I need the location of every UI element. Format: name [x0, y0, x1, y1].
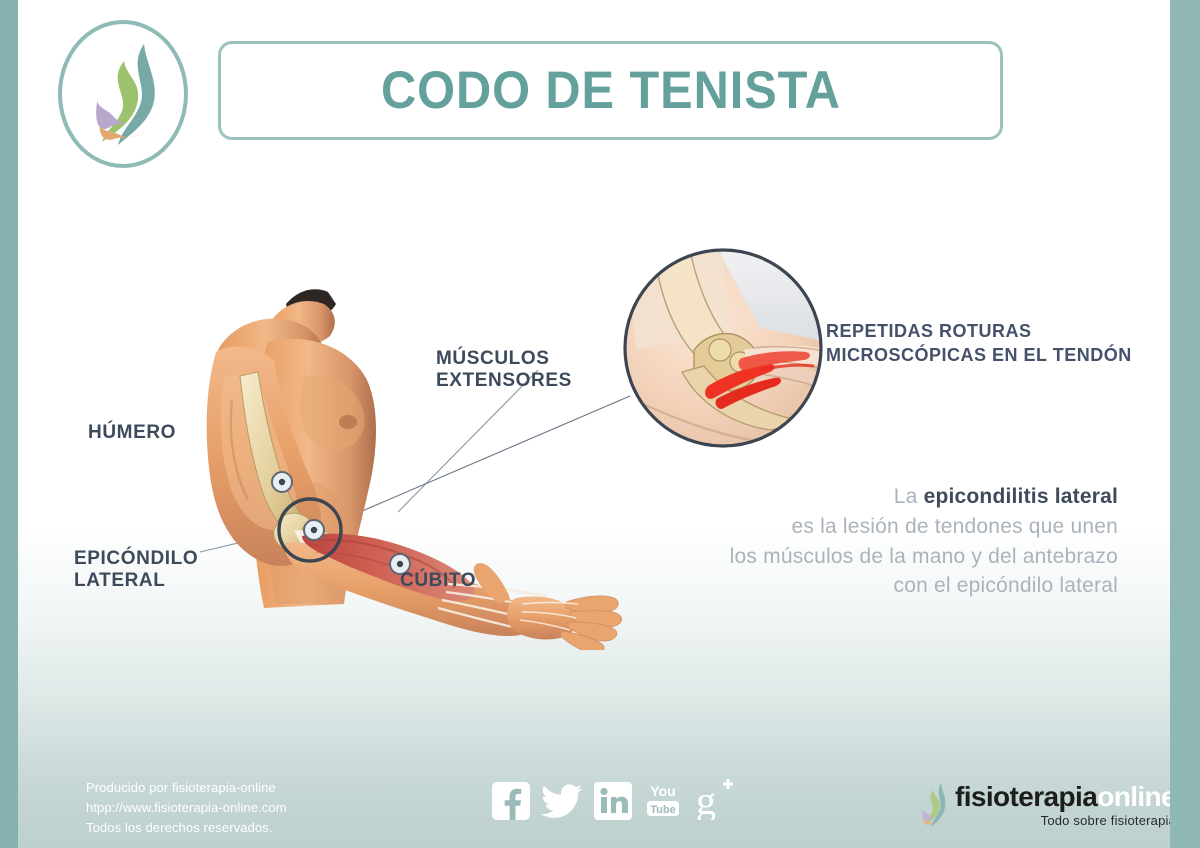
marker-epicondyle	[304, 520, 324, 540]
twitter-icon[interactable]	[541, 782, 583, 820]
brand-footer-logo: fisioterapiaonline Todo sobre fisioterap…	[918, 782, 1176, 828]
description-line-1: La epicondilitis lateral	[648, 482, 1118, 512]
label-musculos-extensores: MÚSCULOS EXTENSORES	[436, 348, 572, 393]
flame-leaf-logo-icon	[84, 41, 162, 147]
brand-wordmark: fisioterapiaonline Todo sobre fisioterap…	[955, 783, 1176, 827]
brand-word-light: online	[1097, 781, 1176, 812]
description-block: La epicondilitis lateral es la lesión de…	[648, 482, 1118, 601]
description-emphasis: epicondilitis lateral	[924, 485, 1118, 508]
brand-tagline: Todo sobre fisioterapia	[955, 814, 1176, 827]
description-prefix: La	[894, 485, 924, 508]
brand-logo-badge	[58, 20, 188, 168]
linkedin-icon[interactable]	[594, 782, 632, 820]
description-line-2: es la lesión de tendones que unen	[648, 512, 1118, 542]
footer-credit: Producido por fisioterapia-online htpp:/…	[86, 778, 287, 837]
label-epicondilo-lateral: EPICÓNDILO LATERAL	[74, 548, 198, 593]
svg-text:You: You	[650, 783, 675, 799]
description-line-4: con el epicóndilo lateral	[648, 571, 1118, 601]
label-cubito: CÚBITO	[400, 570, 476, 592]
facebook-icon[interactable]	[492, 782, 530, 820]
label-humero: HÚMERO	[88, 422, 176, 444]
brand-word-dark: fisioterapia	[955, 781, 1097, 812]
label-repetidas-roturas: REPETIDAS ROTURAS MICROSCÓPICAS EN EL TE…	[826, 320, 1176, 368]
youtube-icon[interactable]: You Tube	[643, 780, 683, 820]
brand-name-row: fisioterapiaonline	[955, 783, 1176, 811]
title-banner: CODO DE TENISTA	[218, 41, 1003, 140]
infographic-poster: CODO DE TENISTA	[0, 0, 1200, 848]
svg-text:g: g	[696, 778, 716, 820]
svg-text:Tube: Tube	[650, 804, 675, 816]
description-line-3: los músculos de la mano y del antebrazo	[648, 542, 1118, 572]
poster-header: CODO DE TENISTA	[58, 18, 1003, 168]
social-links: You Tube g	[492, 778, 738, 820]
googleplus-icon[interactable]: g	[694, 778, 738, 820]
page-title: CODO DE TENISTA	[381, 60, 841, 121]
flame-leaf-logo-icon	[918, 782, 948, 828]
marker-humerus	[272, 472, 292, 492]
